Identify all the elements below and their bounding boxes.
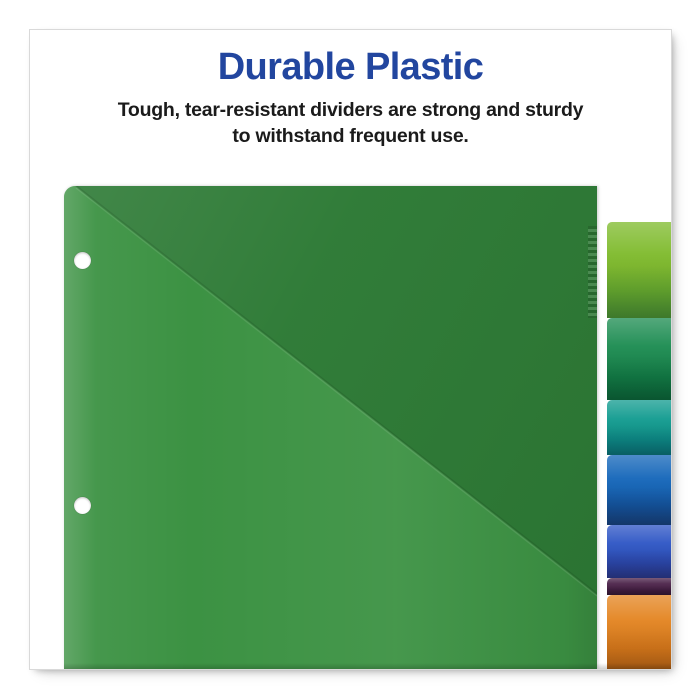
tab-royal-blue-face <box>607 525 671 578</box>
tab-blue[interactable] <box>607 455 671 525</box>
tab-royal-blue[interactable] <box>607 525 671 578</box>
green-divider-sheet <box>64 186 597 669</box>
tab-light-green[interactable] <box>607 222 671 318</box>
screenshot-stage: Durable Plastic Tough, tear-resistant di… <box>0 0 700 700</box>
page-subtitle-line-2: to withstand frequent use. <box>232 125 468 147</box>
pocket-fold-line <box>64 186 597 669</box>
product-image-card: Durable Plastic Tough, tear-resistant di… <box>30 30 671 669</box>
tab-orange[interactable] <box>607 595 671 669</box>
diagonal-pocket-flap <box>64 186 597 669</box>
tab-teal-face <box>607 400 671 455</box>
header-block: Durable Plastic Tough, tear-resistant di… <box>30 48 671 150</box>
page-subtitle: Tough, tear-resistant dividers are stron… <box>52 98 649 150</box>
tab-dark-green[interactable] <box>607 318 671 400</box>
tab-dark-green-face <box>607 318 671 400</box>
tab-orange-face <box>607 595 671 669</box>
divider-product-artwork <box>64 186 671 669</box>
tab-light-green-face <box>607 222 671 318</box>
punch-hole-lower <box>74 497 91 514</box>
sheet-gloss-sheen <box>64 186 597 669</box>
reinforced-rib-texture <box>588 226 597 318</box>
page-title: Durable Plastic <box>52 48 649 88</box>
punch-hole-upper <box>74 252 91 269</box>
tab-blue-face <box>607 455 671 525</box>
tab-teal[interactable] <box>607 400 671 455</box>
page-subtitle-line-1: Tough, tear-resistant dividers are stron… <box>118 99 584 121</box>
index-tab-stack <box>607 186 671 669</box>
tab-purple[interactable] <box>607 578 671 595</box>
tab-purple-face <box>607 578 671 595</box>
